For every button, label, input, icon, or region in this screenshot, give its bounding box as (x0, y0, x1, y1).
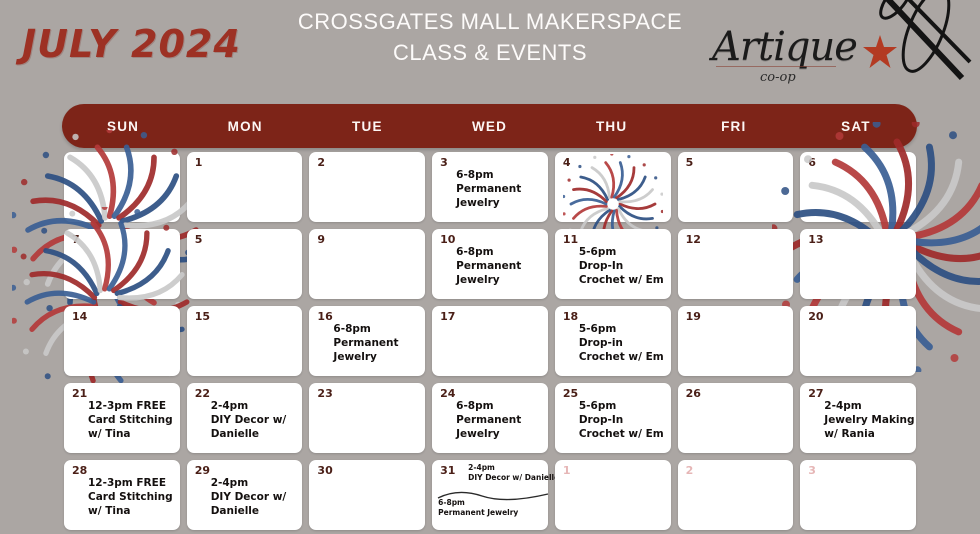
weekday-sun: SUN (62, 119, 184, 134)
event-line: 6-8pm (333, 322, 421, 336)
event-line: 5-6pm (579, 322, 667, 336)
event-line: 5-6pm (579, 245, 667, 259)
day-cell[interactable]: 23 (309, 383, 425, 453)
day-number: 15 (195, 310, 210, 323)
day-cell[interactable]: 5 (187, 229, 303, 299)
day-cell[interactable]: 222-4pmDIY Decor w/Danielle (187, 383, 303, 453)
month-title: JULY 2024 (22, 22, 241, 66)
event-line: Drop-In (579, 259, 667, 273)
event-group: 6-8pmPermanentJewelry (456, 245, 544, 287)
day-cell[interactable]: 12 (678, 229, 794, 299)
day-number: 10 (440, 233, 455, 246)
day-number: 1 (563, 464, 571, 477)
event-group-top: 2-4pmDIY Decor w/ Danielle (468, 463, 545, 483)
day-cell[interactable]: 9 (309, 229, 425, 299)
event-line: w/ Tina (88, 504, 176, 518)
event-line: Danielle (211, 427, 299, 441)
event-line: Card Stitching (88, 490, 176, 504)
day-number: 7 (72, 233, 80, 246)
day-number: 2 (686, 464, 694, 477)
day-cell[interactable]: 166-8pmPermanentJewelry (309, 306, 425, 376)
event-line: DIY Decor w/ (211, 413, 299, 427)
day-number: 17 (440, 310, 455, 323)
day-cell[interactable]: 6 (800, 152, 916, 222)
day-cell[interactable]: 106-8pmPermanentJewelry (432, 229, 548, 299)
event-line: Danielle (211, 504, 299, 518)
day-cell[interactable]: 1 (187, 152, 303, 222)
day-number: 16 (317, 310, 332, 323)
event-line: Permanent (456, 182, 544, 196)
event-line: Drop-In (579, 413, 667, 427)
day-cell[interactable]: 20 (800, 306, 916, 376)
event-group: 2-4pmJewelry Makingw/ Rania (824, 399, 912, 441)
event-line: 12-3pm FREE (88, 476, 176, 490)
day-number: 3 (440, 156, 448, 169)
event-line: Crochet w/ Em (579, 427, 667, 441)
event-line: DIY Decor w/ (211, 490, 299, 504)
event-line: Permanent (456, 413, 544, 427)
event-line: Jewelry Making (824, 413, 912, 427)
day-number: 27 (808, 387, 823, 400)
event-line: Permanent (456, 259, 544, 273)
event-line: Permanent (333, 336, 421, 350)
day-number: 22 (195, 387, 210, 400)
page-title: CROSSGATES MALL MAKERSPACE CLASS & EVENT… (255, 6, 725, 68)
day-number: 25 (563, 387, 578, 400)
event-line: 5-6pm (579, 399, 667, 413)
event-line: 2-4pm (468, 463, 545, 473)
title-line-secondary: CLASS & EVENTS (255, 37, 725, 68)
day-cell[interactable]: 17 (432, 306, 548, 376)
event-group: 6-8pmPermanentJewelry (333, 322, 421, 364)
event-line: Permanent Jewelry (438, 508, 545, 518)
day-number: 6 (808, 156, 816, 169)
event-line: 6-8pm (456, 245, 544, 259)
day-number: 21 (72, 387, 87, 400)
day-cell[interactable]: 3 (800, 460, 916, 530)
event-group: 5-6pmDrop-InCrochet w/ Em (579, 399, 667, 441)
day-cell[interactable]: 272-4pmJewelry Makingw/ Rania (800, 383, 916, 453)
day-cell[interactable]: 19 (678, 306, 794, 376)
event-line: w/ Tina (88, 427, 176, 441)
day-cell[interactable]: 5 (678, 152, 794, 222)
day-number: 31 (440, 464, 455, 477)
event-line: 6-8pm (456, 168, 544, 182)
day-cell[interactable]: 36-8pmPermanentJewelry (432, 152, 548, 222)
day-number: 9 (317, 233, 325, 246)
event-line: Card Stitching (88, 413, 176, 427)
day-cell[interactable]: 4 (555, 152, 671, 222)
day-cell[interactable]: 2 (309, 152, 425, 222)
event-group: 5-6pmDrop-inCrochet w/ Em (579, 322, 667, 364)
event-line: Jewelry (456, 273, 544, 287)
day-number: 26 (686, 387, 701, 400)
day-number: 5 (195, 233, 203, 246)
day-cell[interactable]: 2 (678, 460, 794, 530)
event-line: 2-4pm (824, 399, 912, 413)
event-group: 2-4pmDIY Decor w/Danielle (211, 399, 299, 441)
calendar-grid: 1236-8pmPermanentJewelry456759106-8pmPer… (64, 152, 916, 530)
event-line: 6-8pm (438, 498, 545, 508)
event-group-bottom: 6-8pmPermanent Jewelry (438, 498, 545, 518)
day-number: 12 (686, 233, 701, 246)
day-number: 20 (808, 310, 823, 323)
title-line-primary: CROSSGATES MALL MAKERSPACE (255, 6, 725, 37)
day-number: 28 (72, 464, 87, 477)
day-number: 24 (440, 387, 455, 400)
weekday-wed: WED (428, 119, 550, 134)
event-line: Jewelry (456, 427, 544, 441)
weekday-fri: FRI (673, 119, 795, 134)
event-line: w/ Rania (824, 427, 912, 441)
weekday-mon: MON (184, 119, 306, 134)
logo-wordmark: Artique (712, 24, 857, 70)
day-cell[interactable]: 30 (309, 460, 425, 530)
event-line: Crochet w/ Em (579, 273, 667, 287)
event-line: Jewelry (456, 196, 544, 210)
event-group: 12-3pm FREECard Stitchingw/ Tina (88, 476, 176, 518)
day-number: 4 (563, 156, 571, 169)
event-line: 12-3pm FREE (88, 399, 176, 413)
day-cell[interactable] (64, 152, 180, 222)
event-line: Crochet w/ Em (579, 350, 667, 364)
weekday-sat: SAT (795, 119, 917, 134)
day-number: 19 (686, 310, 701, 323)
weekday-header-bar: SUN MON TUE WED THU FRI SAT (62, 104, 917, 148)
day-cell[interactable]: 246-8pmPermanentJewelry (432, 383, 548, 453)
day-number: 30 (317, 464, 332, 477)
day-number: 18 (563, 310, 578, 323)
event-group: 5-6pmDrop-InCrochet w/ Em (579, 245, 667, 287)
logo-subtext: co-op (760, 70, 796, 85)
day-number: 2 (317, 156, 325, 169)
day-cell[interactable]: 1 (555, 460, 671, 530)
day-number: 5 (686, 156, 694, 169)
day-cell[interactable]: 26 (678, 383, 794, 453)
day-cell[interactable]: 2112-3pm FREECard Stitchingw/ Tina (64, 383, 180, 453)
day-cell[interactable]: 7 (64, 229, 180, 299)
event-line: 2-4pm (211, 399, 299, 413)
day-number: 3 (808, 464, 816, 477)
day-cell[interactable]: 255-6pmDrop-InCrochet w/ Em (555, 383, 671, 453)
day-cell[interactable]: 185-6pmDrop-inCrochet w/ Em (555, 306, 671, 376)
event-line: Jewelry (333, 350, 421, 364)
star-icon (862, 34, 898, 70)
event-group: 2-4pmDIY Decor w/Danielle (211, 476, 299, 518)
event-group: 12-3pm FREECard Stitchingw/ Tina (88, 399, 176, 441)
day-cell[interactable]: 2812-3pm FREECard Stitchingw/ Tina (64, 460, 180, 530)
day-number: 23 (317, 387, 332, 400)
event-line: Drop-in (579, 336, 667, 350)
event-line: 2-4pm (211, 476, 299, 490)
day-cell[interactable]: 115-6pmDrop-InCrochet w/ Em (555, 229, 671, 299)
event-line: 6-8pm (456, 399, 544, 413)
day-cell[interactable]: 13 (800, 229, 916, 299)
day-cell[interactable]: 292-4pmDIY Decor w/Danielle (187, 460, 303, 530)
event-group: 6-8pmPermanentJewelry (456, 168, 544, 210)
day-cell[interactable]: 15 (187, 306, 303, 376)
event-group: 6-8pmPermanentJewelry (456, 399, 544, 441)
day-number: 14 (72, 310, 87, 323)
day-number: 11 (563, 233, 578, 246)
day-number: 13 (808, 233, 823, 246)
day-number: 29 (195, 464, 210, 477)
day-number: 1 (195, 156, 203, 169)
weekday-thu: THU (551, 119, 673, 134)
artique-logo: Artique co-op (702, 8, 932, 100)
weekday-tue: TUE (306, 119, 428, 134)
day-cell[interactable]: 14 (64, 306, 180, 376)
day-cell[interactable]: 312-4pmDIY Decor w/ Danielle6-8pmPermane… (432, 460, 548, 530)
event-line: DIY Decor w/ Danielle (468, 473, 545, 483)
logo-underline (716, 66, 836, 67)
page-header: JULY 2024 CROSSGATES MALL MAKERSPACE CLA… (0, 0, 980, 103)
